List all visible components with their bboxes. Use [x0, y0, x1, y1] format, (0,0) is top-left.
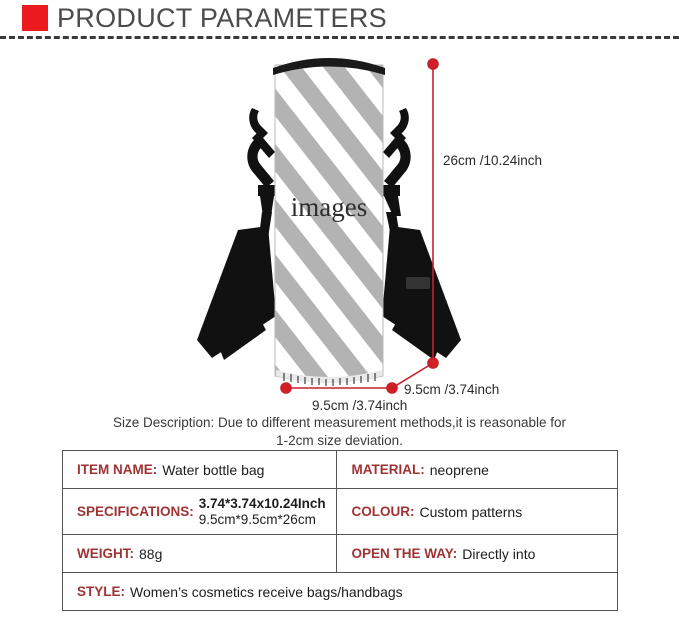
- value-style: Women’s cosmetics receive bags/handbags: [130, 584, 403, 600]
- label-specifications: SPECIFICATIONS:: [77, 504, 194, 519]
- specifications-cm: 9.5cm*9.5cm*26cm: [199, 512, 326, 528]
- cell-item-name: ITEM NAME: Water bottle bag: [63, 451, 337, 489]
- cell-weight: WEIGHT: 88g: [63, 535, 337, 573]
- cell-material: MATERIAL: neoprene: [337, 451, 618, 489]
- header-divider: [0, 36, 679, 39]
- value-weight: 88g: [139, 546, 162, 562]
- size-description: Size Description: Due to different measu…: [0, 414, 679, 450]
- dimension-height-label: 26cm /10.24inch: [443, 153, 542, 168]
- image-watermark: images: [291, 192, 367, 222]
- table-row: WEIGHT: 88g OPEN THE WAY: Directly into: [63, 535, 618, 573]
- cell-open-the-way: OPEN THE WAY: Directly into: [337, 535, 618, 573]
- table-row: STYLE: Women’s cosmetics receive bags/ha…: [63, 573, 618, 611]
- page-title: PRODUCT PARAMETERS: [57, 5, 387, 32]
- cell-style: STYLE: Women’s cosmetics receive bags/ha…: [63, 573, 618, 611]
- dimension-depth-label: 9.5cm /3.74inch: [404, 382, 499, 397]
- table-row: SPECIFICATIONS: 3.74*3.74x10.24Inch 9.5c…: [63, 489, 618, 535]
- size-description-line-2: 1-2cm size deviation.: [0, 432, 679, 450]
- header-accent-square: [22, 5, 48, 31]
- dimension-width-label: 9.5cm /3.74inch: [312, 398, 407, 413]
- label-style: STYLE:: [77, 584, 125, 599]
- table-row: ITEM NAME: Water bottle bag MATERIAL: ne…: [63, 451, 618, 489]
- bottle-bag-drawing: images: [0, 40, 679, 410]
- specification-table: ITEM NAME: Water bottle bag MATERIAL: ne…: [62, 450, 618, 611]
- cell-specifications: SPECIFICATIONS: 3.74*3.74x10.24Inch 9.5c…: [63, 489, 337, 535]
- bottle-body: [270, 58, 390, 390]
- size-description-line-1: Size Description: Due to different measu…: [0, 414, 679, 432]
- specifications-inch: 3.74*3.74x10.24Inch: [199, 496, 326, 512]
- product-illustration: images 26cm /10.24inch 9.5cm /3.74inch 9…: [0, 40, 679, 410]
- label-weight: WEIGHT:: [77, 546, 134, 561]
- label-colour: COLOUR:: [351, 504, 414, 519]
- value-item-name: Water bottle bag: [162, 462, 264, 478]
- value-material: neoprene: [430, 462, 489, 478]
- page-header: PRODUCT PARAMETERS: [0, 0, 679, 36]
- value-open-the-way: Directly into: [462, 546, 535, 562]
- value-specifications: 3.74*3.74x10.24Inch 9.5cm*9.5cm*26cm: [199, 496, 326, 527]
- value-colour: Custom patterns: [419, 504, 522, 520]
- product-parameters-page: PRODUCT PARAMETERS: [0, 0, 679, 635]
- left-shoulder-strap: [197, 108, 276, 360]
- label-open-the-way: OPEN THE WAY:: [351, 546, 457, 561]
- label-material: MATERIAL:: [351, 462, 424, 477]
- label-item-name: ITEM NAME:: [77, 462, 157, 477]
- cell-colour: COLOUR: Custom patterns: [337, 489, 618, 535]
- right-shoulder-strap: [382, 108, 461, 360]
